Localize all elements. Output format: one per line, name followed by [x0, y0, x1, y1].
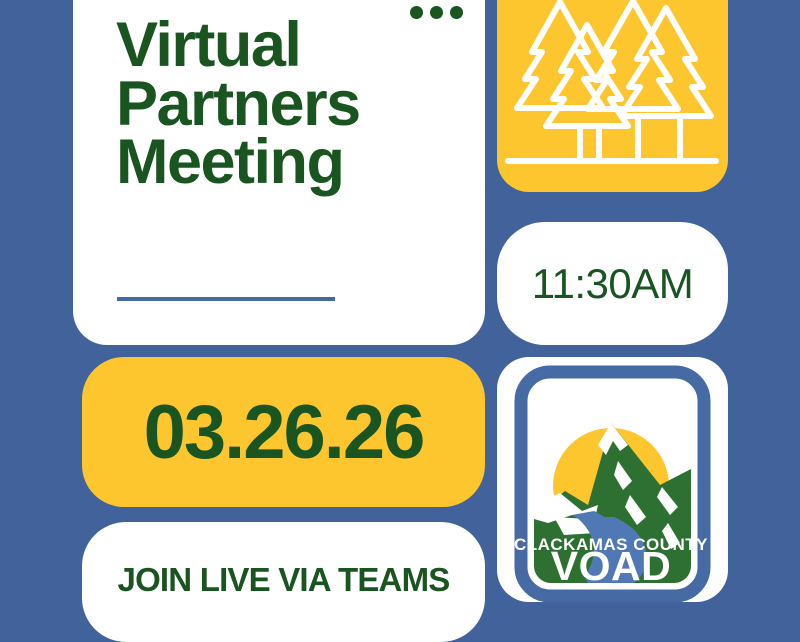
title-divider: [117, 297, 335, 301]
title-line-3: Meeting: [116, 133, 466, 192]
join-live-card[interactable]: JOIN LIVE VIA TEAMS: [82, 522, 485, 642]
title-line-1: Virtual: [116, 16, 466, 75]
meeting-time: 11:30AM: [532, 260, 694, 308]
join-live-label: JOIN LIVE VIA TEAMS: [82, 561, 485, 599]
pine-trees-icon: [503, 0, 722, 180]
time-card: 11:30AM: [497, 222, 728, 345]
date-card: 03.26.26: [82, 357, 485, 507]
title-card: Virtual Partners Meeting: [73, 0, 485, 345]
meeting-date: 03.26.26: [144, 389, 424, 476]
clackamas-county-voad-logo: CLACKAMAS COUNTY VOAD: [510, 365, 715, 602]
poster-canvas: Virtual Partners Meeting: [0, 0, 800, 600]
pine-trees-card: [497, 0, 728, 192]
page-title: Virtual Partners Meeting: [116, 16, 466, 192]
voad-logo-card: CLACKAMAS COUNTY VOAD: [497, 357, 728, 602]
logo-voad-line: VOAD: [551, 543, 671, 589]
title-line-2: Partners: [116, 75, 466, 134]
